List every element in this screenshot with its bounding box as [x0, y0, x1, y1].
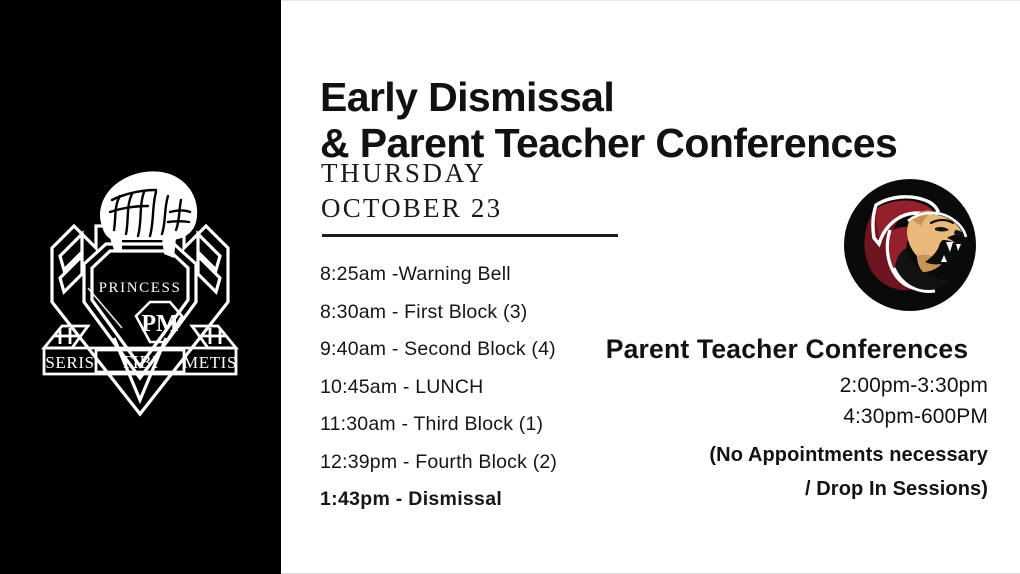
school-crest-logo: PRINCESS PM — [30, 152, 250, 420]
list-item: 8:25am -Warning Bell — [320, 256, 650, 294]
left-black-panel: PRINCESS PM — [0, 0, 281, 574]
crest-motto-center: TIBI — [121, 352, 159, 372]
conference-title: Parent Teacher Conferences — [588, 332, 988, 366]
event-date: THURSDAY OCTOBER 23 — [321, 156, 651, 226]
poster-canvas: PRINCESS PM — [0, 0, 1020, 574]
crest-school-name: PRINCESS — [99, 280, 182, 296]
event-day: THURSDAY — [321, 156, 651, 191]
conference-time-2: 4:30pm-600PM — [588, 401, 988, 432]
conference-info: Parent Teacher Conferences 2:00pm-3:30pm… — [588, 332, 988, 506]
conference-time-1: 2:00pm-3:30pm — [588, 370, 988, 401]
lion-mascot-logo — [843, 178, 977, 312]
list-item: 8:30am - First Block (3) — [320, 294, 650, 332]
page-title: Early Dismissal & Parent Teacher Confere… — [320, 75, 940, 167]
conference-note-1: (No Appointments necessary — [588, 438, 988, 472]
crest-motto-right: METIS — [183, 353, 237, 372]
crest-motto-left: SERIS — [45, 353, 94, 372]
event-date-text: OCTOBER 23 — [321, 191, 651, 226]
divider-rule — [322, 234, 618, 237]
crest-monogram: PM — [141, 311, 178, 337]
conference-note-2: / Drop In Sessions) — [588, 472, 988, 506]
